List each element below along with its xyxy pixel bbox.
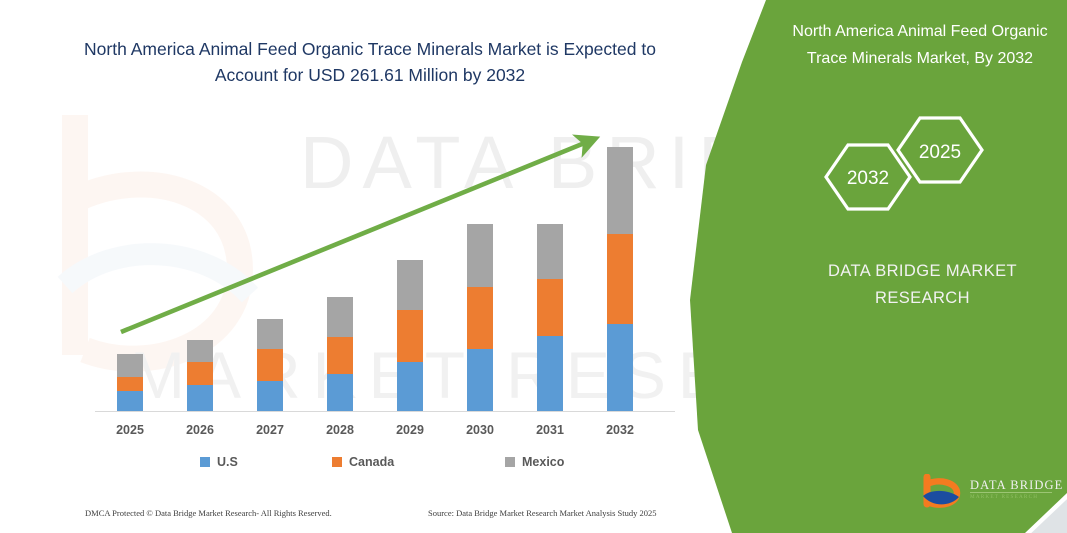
bar-segment-us-2027 — [257, 381, 283, 411]
footer-source: Source: Data Bridge Market Research Mark… — [428, 508, 657, 518]
bar-segment-canada-2032 — [607, 234, 633, 324]
bar-segment-us-2032 — [607, 324, 633, 411]
bar-segment-mexico-2030 — [467, 224, 493, 287]
bar-2028 — [327, 297, 353, 411]
growth-trend-arrow-icon — [95, 120, 675, 412]
x-axis-label-2029: 2029 — [375, 423, 445, 437]
bar-chart — [95, 120, 675, 415]
bar-segment-mexico-2028 — [327, 297, 353, 337]
bar-segment-us-2029 — [397, 362, 423, 411]
bar-segment-canada-2031 — [537, 279, 563, 336]
x-axis-label-2025: 2025 — [95, 423, 165, 437]
bar-2032 — [607, 147, 633, 411]
bar-segment-us-2030 — [467, 349, 493, 411]
bar-segment-us-2025 — [117, 391, 143, 411]
bar-segment-mexico-2029 — [397, 260, 423, 310]
hexagon-2025-label: 2025 — [919, 142, 961, 163]
x-axis-label-2028: 2028 — [305, 423, 375, 437]
data-bridge-logo-icon — [920, 474, 966, 512]
bar-segment-mexico-2032 — [607, 147, 633, 234]
bar-segment-canada-2030 — [467, 287, 493, 349]
x-axis-label-2027: 2027 — [235, 423, 305, 437]
legend-swatch-icon — [332, 457, 342, 467]
bar-2026 — [187, 340, 213, 411]
plot-area — [95, 120, 675, 412]
footer: DMCA Protected © Data Bridge Market Rese… — [0, 508, 760, 528]
side-panel-title: North America Animal Feed Organic Trace … — [780, 18, 1060, 72]
bar-segment-mexico-2025 — [117, 354, 143, 377]
legend-item-canada[interactable]: Canada — [332, 455, 394, 469]
bar-segment-canada-2027 — [257, 349, 283, 381]
bar-segment-canada-2025 — [117, 377, 143, 391]
chart-legend: U.SCanadaMexico — [95, 455, 675, 475]
x-axis-line — [95, 411, 675, 412]
page-title: North America Animal Feed Organic Trace … — [60, 36, 680, 88]
legend-swatch-icon — [505, 457, 515, 467]
chart-panel: DATA BRIDGE MARKET RESEARCH North Americ… — [0, 0, 760, 533]
logo-subtext: MARKET RESEARCH — [970, 494, 1038, 500]
bar-2031 — [537, 224, 563, 411]
x-axis-labels: 20252026202720282029203020312032 — [95, 423, 675, 443]
bar-segment-mexico-2031 — [537, 224, 563, 279]
bar-2027 — [257, 319, 283, 411]
bar-segment-mexico-2027 — [257, 319, 283, 349]
infographic-root: DATA BRIDGE MARKET RESEARCH North Americ… — [0, 0, 1067, 533]
bar-2025 — [117, 354, 143, 411]
x-axis-label-2030: 2030 — [445, 423, 515, 437]
bar-segment-canada-2026 — [187, 362, 213, 385]
legend-label: Mexico — [522, 455, 564, 469]
bar-segment-mexico-2026 — [187, 340, 213, 362]
company-logo: DATA BRIDGE MARKET RESEARCH — [920, 474, 1055, 514]
legend-swatch-icon — [200, 457, 210, 467]
bar-segment-canada-2028 — [327, 337, 353, 374]
hexagon-2032-label: 2032 — [847, 168, 889, 189]
bar-segment-us-2026 — [187, 385, 213, 411]
legend-label: Canada — [349, 455, 394, 469]
x-axis-label-2032: 2032 — [585, 423, 655, 437]
bar-2030 — [467, 224, 493, 411]
legend-item-mexico[interactable]: Mexico — [505, 455, 564, 469]
x-axis-label-2031: 2031 — [515, 423, 585, 437]
bar-segment-canada-2029 — [397, 310, 423, 362]
x-axis-label-2026: 2026 — [165, 423, 235, 437]
bar-2029 — [397, 260, 423, 411]
legend-item-us[interactable]: U.S — [200, 455, 238, 469]
side-panel-brand: DATA BRIDGE MARKET RESEARCH — [790, 258, 1055, 312]
bar-segment-us-2028 — [327, 374, 353, 411]
hexagon-group: 2032 2025 — [810, 110, 1010, 215]
logo-text: DATA BRIDGE — [970, 478, 1063, 493]
footer-copyright: DMCA Protected © Data Bridge Market Rese… — [85, 508, 332, 518]
legend-label: U.S — [217, 455, 238, 469]
bar-segment-us-2031 — [537, 336, 563, 411]
